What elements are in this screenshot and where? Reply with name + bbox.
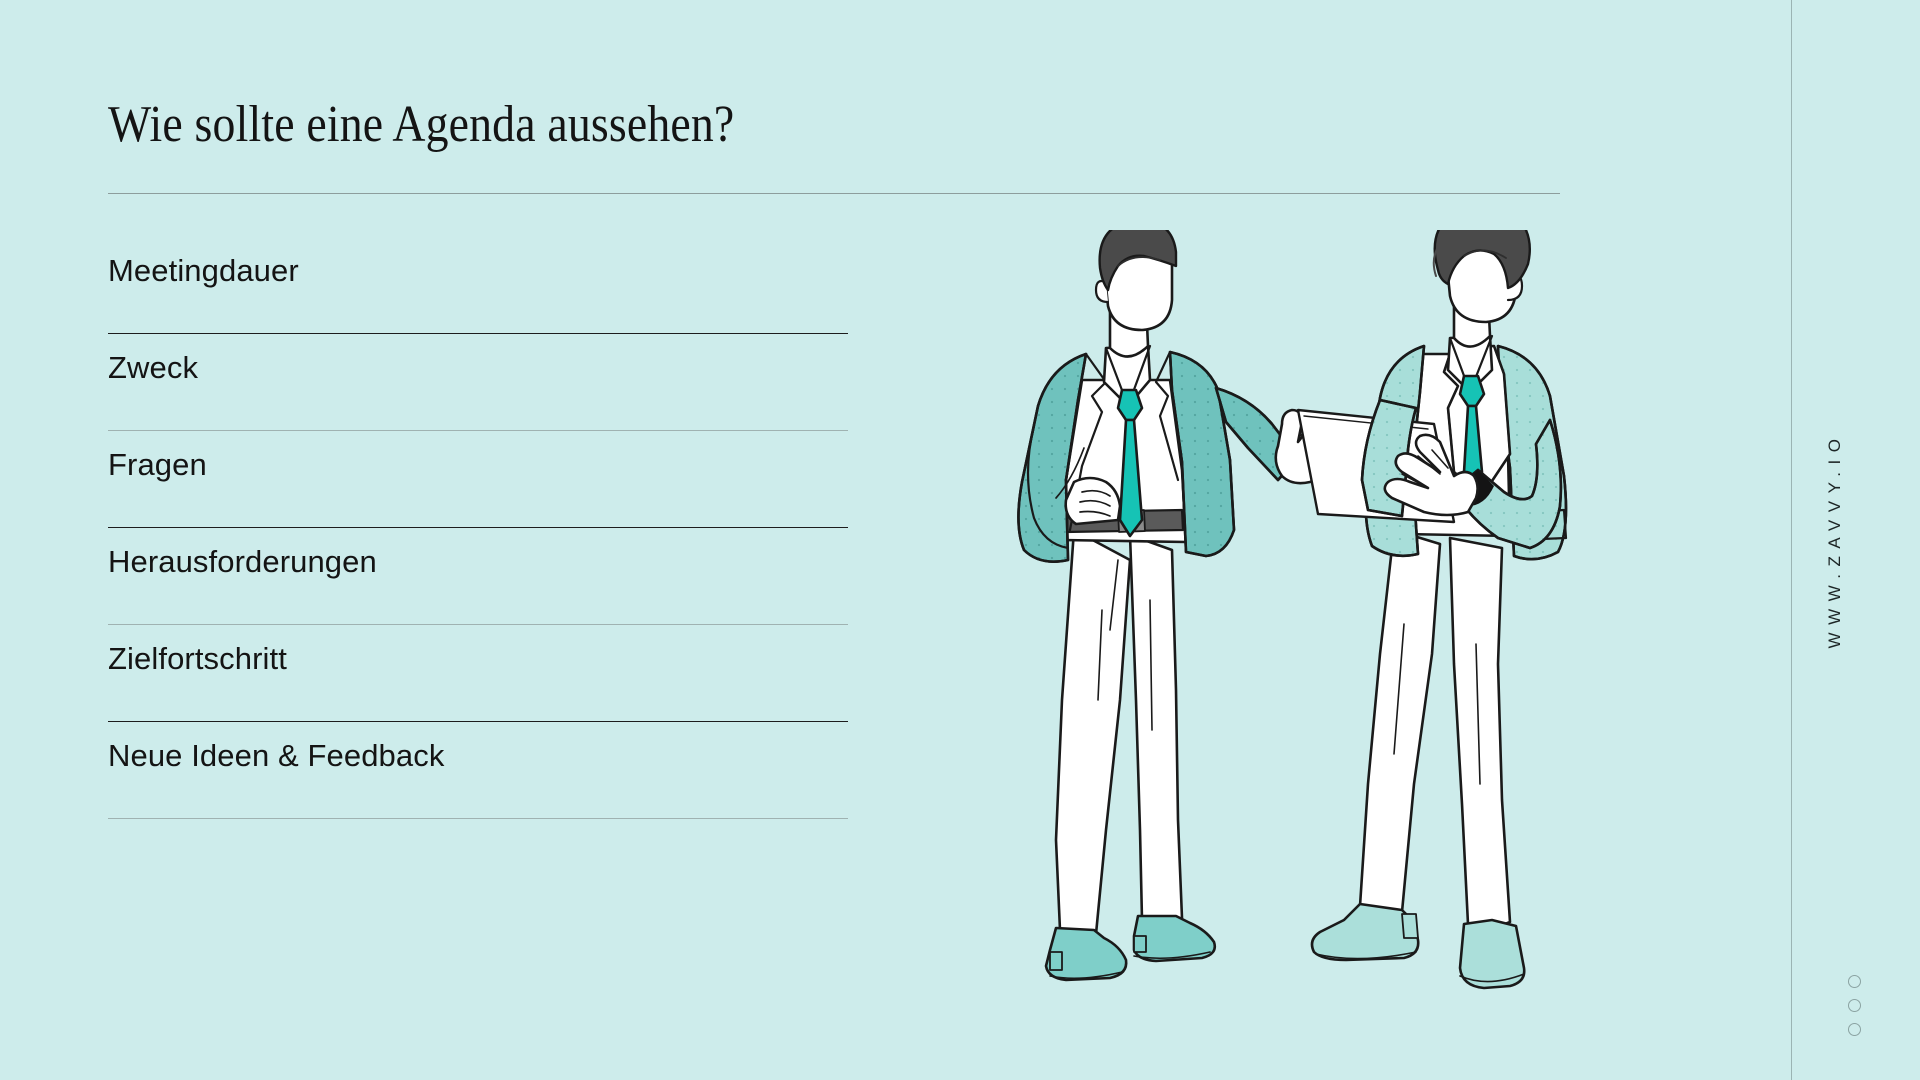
- figure-left-man-gesturing: [1018, 230, 1359, 980]
- decorative-dots-group: [1848, 975, 1861, 1036]
- website-url-vertical: WWW.ZAVVY.IO: [1825, 432, 1845, 649]
- list-item[interactable]: Meetingdauer: [108, 237, 848, 334]
- title-underline-rule: [108, 193, 1560, 194]
- list-item-label: Herausforderungen: [108, 544, 377, 580]
- figure-right-man-holding-folder: [1298, 230, 1566, 988]
- circle-dot-icon: [1848, 999, 1861, 1012]
- list-item[interactable]: Zweck: [108, 334, 848, 431]
- list-item-divider: [108, 818, 848, 819]
- illustration-two-businessmen: [1010, 230, 1710, 1020]
- illustration-svg: [1010, 230, 1710, 1020]
- list-item[interactable]: Neue Ideen & Feedback: [108, 722, 848, 819]
- list-item[interactable]: Fragen: [108, 431, 848, 528]
- list-item-label: Meetingdauer: [108, 253, 299, 289]
- list-item-label: Zweck: [108, 350, 198, 386]
- circle-dot-icon: [1848, 975, 1861, 988]
- circle-dot-icon: [1848, 1023, 1861, 1036]
- list-item-label: Zielfortschritt: [108, 641, 287, 677]
- agenda-list: Meetingdauer Zweck Fragen Herausforderun…: [108, 237, 848, 819]
- list-item-label: Neue Ideen & Feedback: [108, 738, 444, 774]
- list-item[interactable]: Herausforderungen: [108, 528, 848, 625]
- page-title: Wie sollte eine Agenda aussehen?: [108, 96, 1393, 153]
- right-rail-divider: [1791, 0, 1792, 1080]
- list-item-label: Fragen: [108, 447, 207, 483]
- slide-canvas: Wie sollte eine Agenda aussehen? Meeting…: [0, 0, 1920, 1080]
- list-item[interactable]: Zielfortschritt: [108, 625, 848, 722]
